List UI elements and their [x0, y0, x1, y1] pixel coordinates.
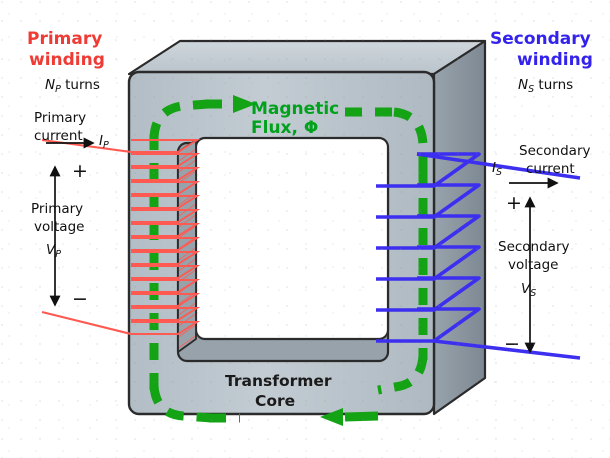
secondary-voltage-symbol-group: VS [521, 281, 536, 299]
secondary-voltage-line2: voltage [508, 257, 558, 273]
secondary-turns-symbol: N [518, 77, 528, 93]
core-label-line1: Transformer [225, 372, 332, 390]
secondary-current-line2: current [526, 161, 575, 177]
primary-turns-symbol: N [45, 77, 55, 93]
core-top-face [129, 41, 485, 74]
secondary-current-subscript: S [496, 167, 502, 178]
primary-plus-sign: + [72, 160, 88, 182]
transformer-core [129, 41, 485, 414]
primary-winding-title-line1: Primary [27, 29, 102, 49]
primary-voltage-line1: Primary [31, 201, 83, 217]
flux-label-line2: Flux, Φ [251, 118, 318, 138]
secondary-turns-word: turns [534, 77, 573, 93]
secondary-voltage-line1: Secondary [498, 239, 570, 255]
primary-voltage-line2: voltage [34, 219, 84, 235]
secondary-current-line1: Secondary [519, 143, 591, 159]
primary-current-line2: current [34, 128, 83, 144]
transformer-diagram: Magnetic Flux, Φ Transformer Core Primar… [0, 0, 610, 458]
secondary-plus-sign: + [506, 192, 522, 214]
primary-voltage-symbol-group: VP [46, 242, 61, 260]
secondary-turns-label: NS turns [518, 77, 573, 95]
flux-bottom-arrow-tail [345, 416, 378, 417]
core-right-side-face [434, 41, 485, 414]
primary-turns-label: NP turns [45, 77, 100, 95]
core-label-line2: Core [255, 392, 295, 410]
secondary-winding-title-line2: winding [517, 50, 593, 70]
secondary-minus-sign: − [504, 333, 520, 355]
core-window-opening [196, 138, 388, 339]
primary-current-symbol-group: IP [99, 133, 109, 151]
primary-turns-word: turns [61, 77, 100, 93]
primary-lead-bottom [42, 312, 131, 334]
secondary-winding-title-line1: Secondary [490, 29, 591, 49]
primary-minus-sign: − [72, 288, 88, 310]
core-left-limb-inner-hatched-face [178, 140, 196, 352]
primary-winding-title-line2: winding [29, 50, 105, 70]
secondary-current-symbol-group: IS [492, 160, 502, 178]
secondary-voltage-subscript: S [530, 288, 536, 299]
diagram-canvas: Magnetic Flux, Φ Transformer Core Primar… [0, 0, 610, 458]
primary-current-line1: Primary [34, 110, 86, 126]
primary-current-subscript: P [103, 140, 109, 151]
primary-voltage-subscript: P [55, 249, 61, 260]
flux-label-line1: Magnetic [251, 99, 339, 119]
